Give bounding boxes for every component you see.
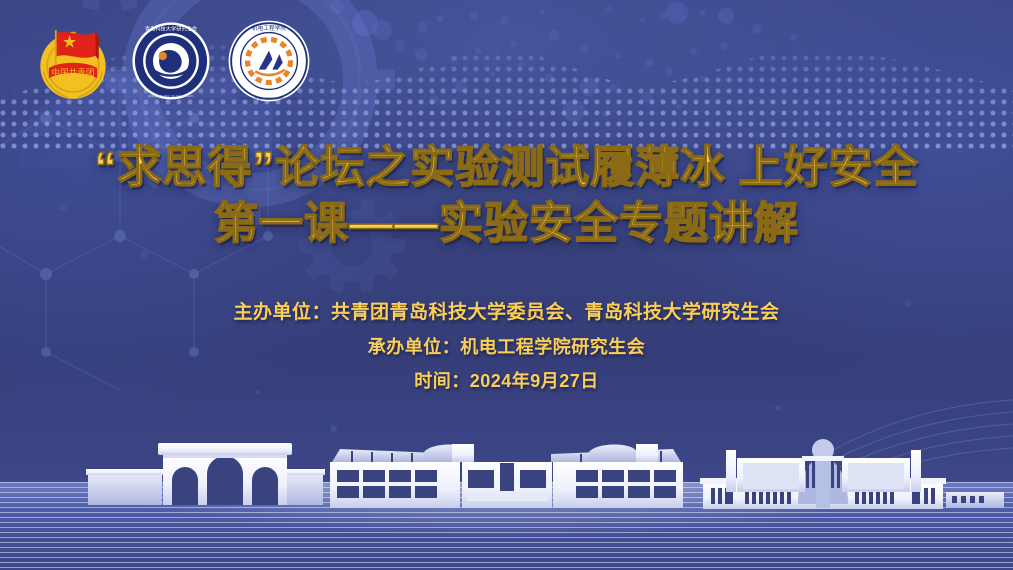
logo-row: 中国共青团 青岛科技大学 — [30, 18, 312, 109]
poster-title: “求思得”论坛之实验测试履薄冰 上好安全 第一课——实验安全专题讲解 — [0, 140, 1013, 252]
campus-skyline-silhouette — [0, 400, 1013, 530]
title-line-1: “求思得”论坛之实验测试履薄冰 上好安全 — [0, 140, 1013, 196]
building-campus-gate — [86, 443, 325, 505]
poster-subtitles: 主办单位：共青团青岛科技大学委员会、青岛科技大学研究生会 承办单位：机电工程学院… — [0, 296, 1013, 398]
event-date-line: 时间：2024年9月27日 — [0, 364, 1013, 398]
svg-text:机电工程学院: 机电工程学院 — [252, 24, 286, 32]
title-line-2: 第一课——实验安全专题讲解 — [0, 196, 1013, 252]
qust-university-emblem: 青岛科技大学研究生会 QINGDAO UNIV. OF SCI. & TECH. — [130, 20, 212, 107]
building-academic-teaching — [330, 444, 683, 508]
electromechanical-college-emblem: 机电工程学院 COLLEGE OF ELECTROMECHANICAL ENG. — [226, 18, 312, 109]
svg-text:中国共青团: 中国共青团 — [52, 67, 95, 78]
svg-text:青岛科技大学研究生会: 青岛科技大学研究生会 — [145, 25, 198, 33]
building-library-administration — [700, 439, 946, 509]
communist-youth-league-emblem: 中国共青团 — [30, 18, 116, 109]
organizer-line: 主办单位：共青团青岛科技大学委员会、青岛科技大学研究生会 — [0, 296, 1013, 330]
svg-text:QINGDAO UNIV. OF SCI. & TECH.: QINGDAO UNIV. OF SCI. & TECH. — [148, 94, 194, 98]
poster-canvas: 中国共青团 青岛科技大学 — [0, 0, 1013, 570]
co-organizer-line: 承办单位：机电工程学院研究生会 — [0, 330, 1013, 364]
building-annex-right — [946, 492, 1004, 508]
svg-text:COLLEGE OF ELECTROMECHANICAL E: COLLEGE OF ELECTROMECHANICAL ENG. — [240, 97, 299, 101]
